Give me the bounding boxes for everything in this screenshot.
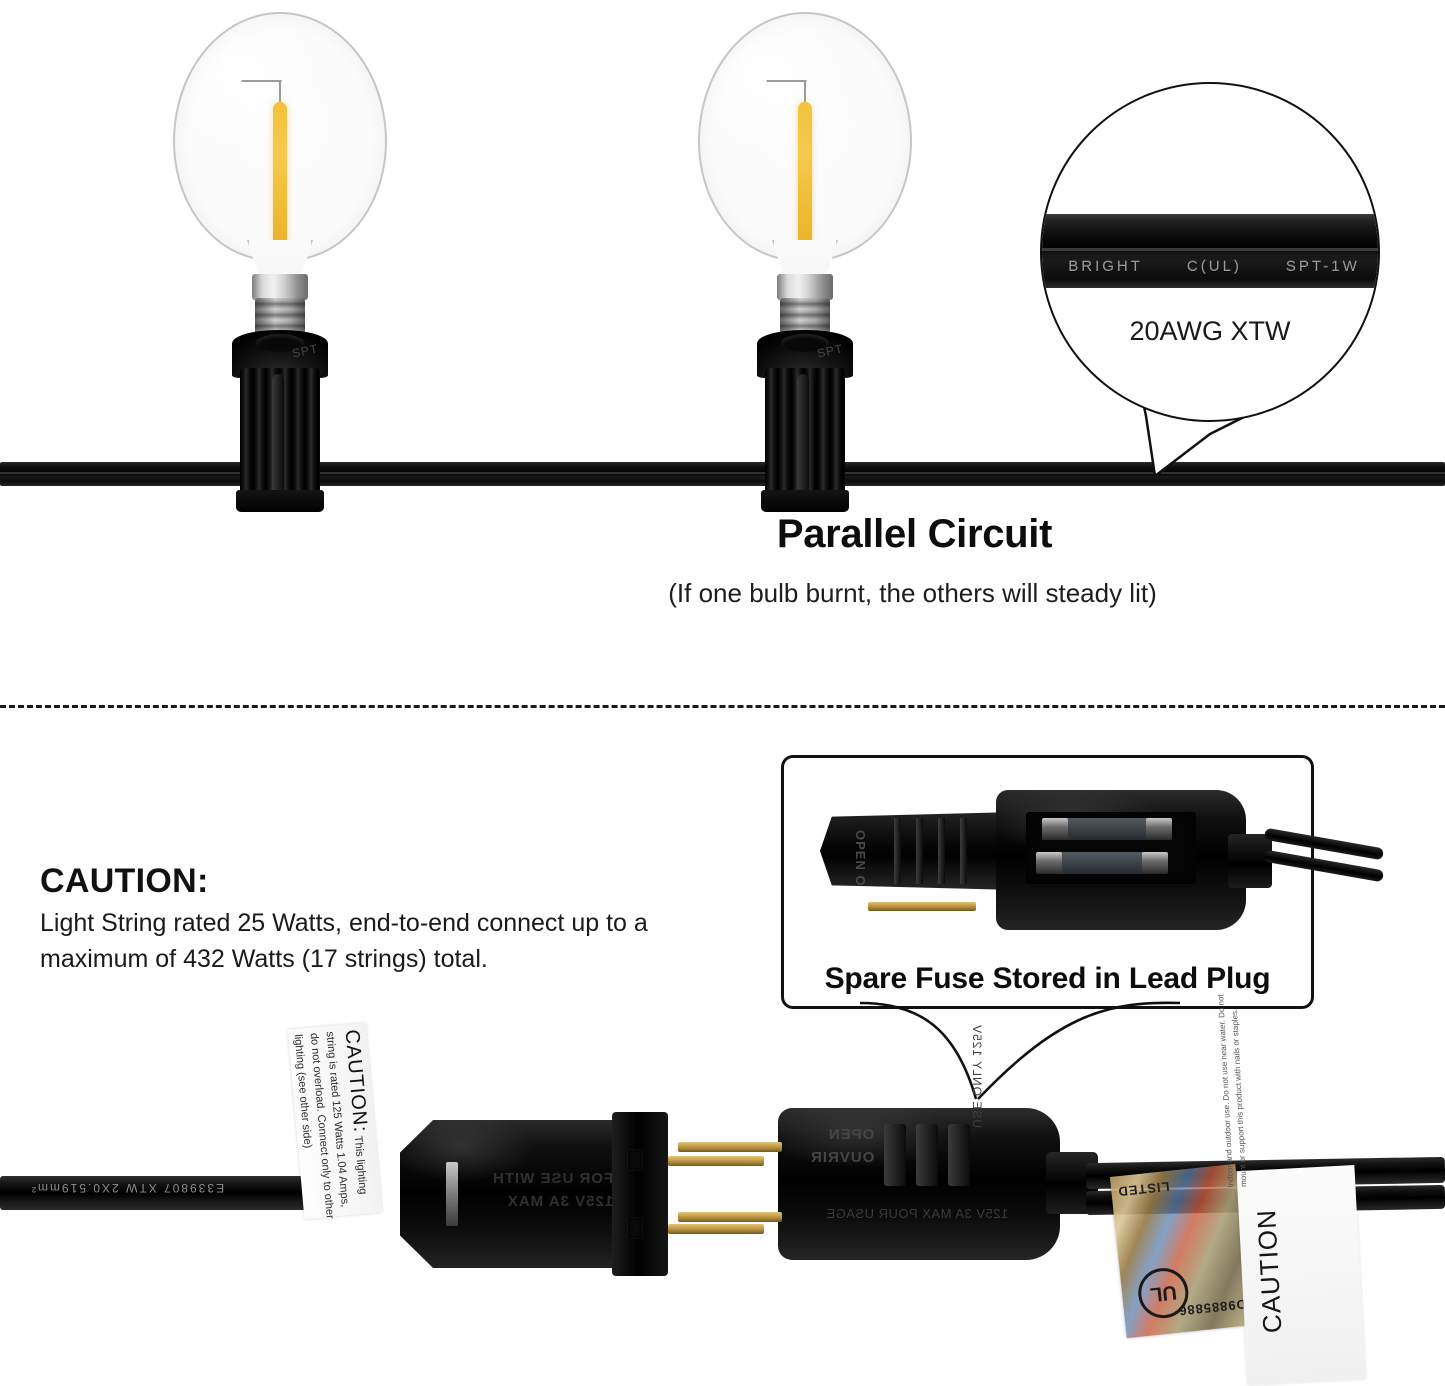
left-caution-tag-heading: CAUTION: (341, 1029, 372, 1134)
fuse-cap-upper-right (1146, 818, 1172, 840)
parallel-circuit-title: Parallel Circuit (0, 512, 1445, 557)
parallel-circuit-subtitle-text: (If one bulb burnt, the others will stea… (668, 578, 1156, 609)
socket-rib-left (272, 374, 284, 494)
bulb-glass-globe-right (698, 12, 912, 261)
left-cord: E339807 XTW 2X0.519mm² (0, 1176, 318, 1210)
bulb-glass-globe-left (173, 12, 387, 261)
female-connector-marking: FOR USE WITH 125V 3A MAX (492, 1168, 613, 1213)
wire-gauge-label: 20AWG XTW (1042, 316, 1378, 347)
led-filament-right (798, 102, 812, 254)
wire-magnifier-callout: BRIGHTC(UL)SPT-1W 20AWG XTW (1040, 82, 1380, 422)
left-caution-tag: CAUTION: This lighting string is rated 1… (288, 1023, 382, 1219)
magnified-wire: BRIGHTC(UL)SPT-1W (1040, 214, 1380, 288)
female-connector: FOR USE WITH 125V 3A MAX (400, 1112, 690, 1272)
spare-fuse-lower (1050, 852, 1146, 874)
e12-collar-right (777, 274, 833, 300)
right-caution-tag: CAUTION Indoor and outdoor use. Do not u… (1236, 1165, 1365, 1385)
ul-holographic-label: LISTED UL D9885886 (1110, 1164, 1252, 1338)
caution-body-text: Light String rated 25 Watts, end-to-end … (40, 906, 710, 977)
fuse-cap-lower-right (1142, 852, 1168, 874)
male-plug-body: OPEN OUVRIR 125V 3A MAX POUR USAGE USE O… (778, 1108, 1060, 1260)
bulb-assembly-left: SPT (155, 12, 405, 512)
male-plug-prong-top (678, 1142, 782, 1152)
caution-heading: CAUTION: (40, 862, 209, 901)
led-filament-left (273, 102, 287, 254)
female-socket-slot-top (628, 1150, 642, 1170)
lead-plug-open-illustration: OPEN OUVRIR (820, 790, 1280, 930)
male-plug-side-text: USE ONLY 125V (968, 1024, 986, 1128)
left-caution-tag-text: CAUTION: This lighting string is rated 1… (289, 1028, 382, 1224)
parallel-circuit-subtitle: (If one bulb burnt, the others will stea… (0, 578, 1445, 609)
socket-foot-right (761, 490, 849, 512)
filament-arm-right (767, 80, 807, 82)
socket-foot-left (236, 490, 324, 512)
filament-arm-left (242, 80, 282, 82)
connector-prong-top (668, 1156, 764, 1166)
wire-marking-brand: BRIGHT (1068, 258, 1143, 275)
female-connector-body: FOR USE WITH 125V 3A MAX (400, 1120, 636, 1268)
fuse-compartment-window (1026, 812, 1196, 884)
female-connector-marking-l1: FOR USE WITH (492, 1170, 613, 1187)
female-connector-marking-l2: 125V 3A MAX (507, 1193, 613, 1210)
fuse-door-open-text: OPEN OUVRIR (851, 830, 868, 932)
wire-marking-text: BRIGHTC(UL)SPT-1W (1040, 258, 1380, 275)
left-cord-marking: E339807 XTW 2X0.519mm² (30, 1181, 224, 1195)
section-divider (0, 705, 1445, 708)
male-lead-plug: OPEN OUVRIR 125V 3A MAX POUR USAGE USE O… (778, 1108, 1118, 1268)
lamp-socket-right: SPT (757, 330, 853, 508)
male-plug-open-en: OPEN (828, 1126, 875, 1143)
male-plug-rating-text: 125V 3A MAX POUR USAGE (826, 1204, 1008, 1224)
right-caution-tag-heading: CAUTION (1251, 1208, 1288, 1333)
infographic-canvas: SPT SPT BRIGHTC(UL)SPT-1W 20A (0, 0, 1445, 1382)
plug-head-open (996, 790, 1246, 930)
wire-marking-spt: SPT-1W (1286, 258, 1360, 275)
fuse-cap-upper-left (1042, 818, 1068, 840)
parallel-circuit-title-text: Parallel Circuit (777, 512, 1052, 557)
wire-marking-cul: C(UL) (1187, 258, 1242, 275)
fuse-callout-leader-lines (860, 995, 1180, 1115)
connector-prong-bottom (668, 1224, 764, 1234)
bulb-assembly-right: SPT (680, 12, 930, 512)
plug-prong-open-lower (868, 902, 976, 911)
fuse-cap-lower-left (1036, 852, 1062, 874)
female-socket-slot-bottom (628, 1218, 642, 1238)
male-plug-prong-bottom (678, 1212, 782, 1222)
male-plug-open-text: OPEN OUVRIR (810, 1124, 874, 1169)
plug-strain-relief-open (1228, 834, 1272, 888)
e12-collar-left (252, 274, 308, 300)
ul-label-code: D9885886 (1177, 1297, 1246, 1319)
lamp-socket-left: SPT (232, 330, 328, 508)
female-connector-face (612, 1112, 668, 1276)
fuse-door-open-en: OPEN (853, 830, 868, 871)
right-caution-tag-body: Indoor and outdoor use. Do not use near … (1215, 991, 1251, 1188)
ul-label-top-text: LISTED (1117, 1179, 1171, 1199)
female-connector-highlight (446, 1162, 458, 1226)
fuse-door-open-fr: OUVRIR (853, 875, 868, 932)
socket-rib-right (797, 374, 809, 494)
fuse-door-slider: OPEN OUVRIR (820, 812, 1016, 890)
male-plug-open-fr: OUVRIR (810, 1149, 874, 1166)
